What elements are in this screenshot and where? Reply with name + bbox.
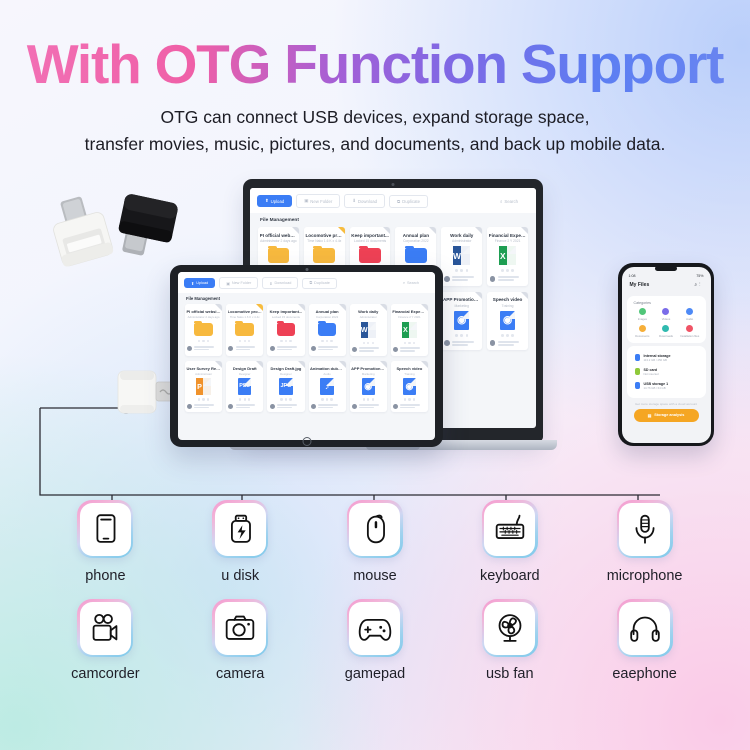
card-action-dots[interactable]	[239, 340, 250, 342]
compat-item-phone[interactable]: phone	[50, 500, 160, 584]
laptop-duplicate-button[interactable]: ⧉ Duplicate	[389, 195, 428, 208]
compat-item-u disk[interactable]: u disk	[185, 500, 295, 584]
card-action-dots[interactable]	[404, 342, 415, 344]
icon-tile[interactable]	[347, 599, 403, 657]
owner-line	[236, 407, 251, 409]
file-owner	[393, 347, 426, 352]
owner-line	[498, 344, 514, 346]
mouse-icon	[355, 509, 395, 549]
icon-tile[interactable]	[482, 500, 538, 558]
dot	[321, 398, 323, 400]
laptop-upload-button[interactable]: ⬆ Upload	[257, 195, 292, 207]
card-corner-marker	[421, 361, 428, 368]
tablet-download-button[interactable]: ⬇ Download	[262, 277, 298, 289]
owner-line	[400, 404, 420, 406]
dot	[511, 269, 514, 272]
file-card[interactable]: PI official website... Administrator 2 d…	[185, 304, 222, 356]
compat-item-label: eaephone	[612, 666, 677, 682]
dot	[248, 398, 250, 400]
icon-tile-inner	[215, 602, 266, 655]
tablet-upload-button[interactable]: ⬆ Upload	[184, 278, 215, 288]
card-corner-marker	[429, 227, 436, 234]
file-meta: Locked 15 documents	[354, 239, 386, 243]
owner-line	[359, 407, 374, 409]
header: With OTG Function Support OTG can connec…	[0, 0, 750, 157]
owner-lines	[452, 276, 480, 281]
file-meta: Time Nako 1.6 K x 4.4x	[307, 239, 341, 243]
compat-item-keyboard[interactable]: keyboard	[455, 500, 565, 584]
compat-item-label: u disk	[221, 568, 259, 584]
tablet-device: ⬆ Upload ▣ New Folder ⬇ Download ⧉ Dupli…	[170, 265, 443, 447]
file-card[interactable]: Annual plan Corporation 2022	[309, 304, 346, 356]
status-battery: 75%	[696, 274, 703, 278]
compat-row-2: camcorder camera gamepad	[0, 599, 750, 682]
dot	[460, 269, 463, 272]
dot	[244, 340, 246, 342]
word-file-icon: W	[361, 322, 376, 338]
dot	[285, 398, 287, 400]
icon-tile[interactable]	[212, 500, 268, 558]
card-corner-marker	[380, 304, 387, 311]
file-card[interactable]: Animation dubbing Audio ♪	[309, 361, 346, 413]
file-meta: Administrator	[452, 239, 471, 243]
file-meta: Finance 2 Y 2021	[495, 239, 521, 243]
storage-size: Not inserted	[644, 372, 659, 376]
icon-tile-inner	[484, 602, 535, 655]
avatar	[270, 404, 275, 409]
avatar	[187, 346, 192, 351]
owner-line	[318, 407, 333, 409]
card-corner-marker	[521, 227, 528, 234]
word-file-icon: W	[453, 246, 471, 265]
laptop-new-folder-button[interactable]: ▣ New Folder	[296, 194, 340, 208]
dot	[239, 340, 241, 342]
download-icon: ⬇	[269, 281, 272, 286]
ppt-file-icon: P	[196, 378, 211, 394]
owner-line	[400, 350, 415, 352]
owner-line	[400, 407, 415, 409]
folder-icon	[194, 323, 213, 336]
tablet-body: ⬆ Upload ▣ New Folder ⬇ Download ⧉ Dupli…	[170, 265, 443, 447]
card-corner-marker	[298, 361, 305, 368]
file-card[interactable]: APP Promotional Video Marketing ◉	[441, 292, 482, 351]
tablet-camera-icon	[305, 268, 308, 271]
camera-icon	[220, 608, 260, 648]
owner-line	[236, 404, 256, 406]
icon-tile[interactable]	[347, 500, 403, 558]
upload-icon: ⬆	[265, 198, 269, 204]
phone-screen: 1:08 75% My Files ⌕⋮ Categories Images V…	[622, 267, 711, 443]
file-meta: Marketing	[362, 372, 375, 376]
tablet-search-input[interactable]: ⌕ Search	[393, 278, 429, 289]
headphones-icon	[625, 608, 665, 648]
card-corner-marker	[339, 361, 346, 368]
dot	[330, 340, 332, 342]
card-action-dots[interactable]	[501, 334, 514, 337]
card-action-dots[interactable]	[363, 398, 374, 400]
file-meta: Locked 15 documents	[272, 315, 300, 319]
storage-icon	[635, 382, 640, 389]
owner-line	[318, 346, 338, 348]
card-action-dots[interactable]	[363, 342, 374, 344]
category-label: Documents	[635, 334, 649, 338]
compat-item-camcorder[interactable]: camcorder	[50, 599, 160, 682]
card-corner-marker	[292, 227, 299, 234]
file-meta: Designer	[239, 372, 251, 376]
category-icon	[639, 308, 646, 315]
tablet-toolbar: ⬆ Upload ▣ New Folder ⬇ Download ⧉ Dupli…	[178, 272, 435, 293]
owner-line	[277, 407, 292, 409]
phone-category-item[interactable]: Videos	[654, 308, 678, 321]
dot	[501, 334, 504, 337]
dot	[460, 334, 463, 337]
file-owner	[187, 404, 220, 409]
subtitle-line-1: OTG can connect USB devices, expand stor…	[0, 104, 750, 131]
compat-item-mouse[interactable]: mouse	[320, 500, 430, 584]
icon-tile-inner	[349, 602, 400, 655]
compat-row-1: phone u disk mouse k	[0, 500, 750, 584]
file-card[interactable]: APP Promotional Video Marketing ◉	[350, 361, 387, 413]
compat-item-label: keyboard	[480, 568, 540, 584]
dot	[413, 398, 415, 400]
card-corner-marker	[338, 227, 345, 234]
owner-line	[452, 344, 468, 346]
phone-notch	[655, 266, 677, 271]
owner-line	[498, 276, 519, 278]
owner-line	[359, 350, 374, 352]
phone-app-title: My Files	[630, 282, 650, 288]
file-owner	[352, 347, 385, 352]
file-card[interactable]: Work daily Administrator W	[350, 304, 387, 356]
phone-storage-row[interactable]: USB storage 1 14.76 GB / 64 GB	[631, 379, 702, 393]
dot	[321, 340, 323, 342]
file-card[interactable]: Keep important... Locked 15 documents	[267, 304, 304, 356]
gamepad-icon	[355, 608, 395, 648]
file-owner	[352, 404, 385, 409]
file-owner	[444, 276, 480, 282]
icon-tile-inner	[215, 503, 266, 556]
file-card[interactable]: User Survey Report Administrator P	[185, 361, 222, 413]
storage-size: 14.76 GB / 64 GB	[644, 386, 669, 390]
owner-lines	[277, 346, 303, 351]
phone-category-item[interactable]: Installation files	[678, 325, 702, 338]
card-corner-marker	[475, 227, 482, 234]
card-action-dots[interactable]	[501, 269, 514, 272]
phone-category-item[interactable]: Documents	[631, 325, 655, 338]
file-card[interactable]: Design Draft Designer PSD	[226, 361, 263, 413]
status-time: 1:08	[629, 274, 636, 278]
dot	[404, 398, 406, 400]
storage-icon	[635, 354, 640, 361]
avatar	[228, 404, 233, 409]
category-icon	[639, 325, 646, 332]
tablet-section-title: File Management	[178, 293, 435, 304]
avatar	[352, 404, 357, 409]
dot	[330, 398, 332, 400]
compat-item-label: mouse	[353, 568, 397, 584]
excel-file-icon: X	[499, 246, 517, 265]
tablet-duplicate-button[interactable]: ⧉ Duplicate	[302, 278, 337, 289]
avatar	[311, 346, 316, 351]
tablet-file-grid-row-2: User Survey Report Administrator P Desig…	[178, 356, 435, 413]
file-meta: Training	[404, 372, 414, 376]
folder-icon	[268, 248, 290, 264]
card-action-dots[interactable]	[455, 269, 468, 272]
phone-category-item[interactable]: Downloads	[654, 325, 678, 338]
owner-lines	[498, 276, 526, 281]
phone-storage-row[interactable]: SD card Not inserted	[631, 365, 702, 379]
video-file-icon: ◉	[500, 311, 515, 330]
dot	[404, 342, 406, 344]
usb-fan-icon	[490, 608, 530, 648]
icon-tile-inner	[349, 503, 400, 556]
storage-text: USB storage 1 14.76 GB / 64 GB	[644, 382, 669, 390]
folder-icon	[235, 323, 254, 336]
storage-size: 113.2 GB / 256 GB	[644, 358, 671, 362]
card-action-dots[interactable]	[280, 340, 291, 342]
dot	[455, 269, 458, 272]
dot	[207, 340, 209, 342]
jpg-file-icon: JPG	[279, 378, 292, 394]
owner-lines	[194, 404, 220, 409]
owner-lines	[318, 404, 344, 409]
icon-tile[interactable]	[77, 599, 133, 657]
dot	[363, 342, 365, 344]
owner-line	[194, 349, 209, 351]
storage-name: Internal storage	[644, 354, 671, 358]
file-meta: Training	[502, 304, 514, 308]
dot	[326, 340, 328, 342]
tablet-home-button[interactable]	[302, 437, 311, 446]
dot	[239, 398, 241, 400]
video-file-icon: ◉	[454, 311, 469, 330]
file-card[interactable]: Speech video Training ◉	[487, 292, 528, 351]
owner-lines	[236, 346, 262, 351]
owner-lines	[236, 404, 262, 409]
icon-tile-inner	[619, 503, 670, 556]
folder-plus-icon: ▣	[226, 281, 230, 286]
card-corner-marker	[339, 304, 346, 311]
card-action-dots[interactable]	[321, 340, 332, 342]
phone-storage-analysis-button[interactable]: ▤ Storage analysis	[634, 409, 699, 422]
card-corner-marker	[215, 304, 222, 311]
file-meta: Finance 2 Y 2021	[398, 315, 420, 319]
category-label: Videos	[662, 317, 671, 321]
phone-categories-grid: Images Videos Audio Documents Downloads …	[631, 308, 702, 338]
avatar	[187, 404, 192, 409]
compat-item-gamepad[interactable]: gamepad	[320, 599, 430, 682]
tablet-screen: ⬆ Upload ▣ New Folder ⬇ Download ⧉ Dupli…	[178, 272, 435, 440]
file-card[interactable]: Work daily Administrator W	[441, 227, 482, 286]
subtitle: OTG can connect USB devices, expand stor…	[0, 104, 750, 157]
avatar	[228, 346, 233, 351]
icon-tile-inner	[80, 602, 131, 655]
file-owner	[311, 346, 344, 351]
card-action-dots[interactable]	[198, 398, 209, 400]
folder-icon	[313, 248, 335, 264]
card-action-dots[interactable]	[198, 340, 209, 342]
usb-flash-drive-icon	[220, 509, 260, 549]
owner-lines	[359, 347, 385, 352]
dot	[363, 398, 365, 400]
category-icon	[686, 325, 693, 332]
file-owner	[311, 404, 344, 409]
compat-item-label: phone	[85, 568, 125, 584]
icon-tile[interactable]	[617, 500, 673, 558]
storage-name: USB storage 1	[644, 382, 669, 386]
file-owner	[187, 346, 220, 351]
icon-tile[interactable]	[212, 599, 268, 657]
phone-header-actions[interactable]: ⌕⋮	[694, 282, 702, 288]
file-card[interactable]: Financial Expenditure... Finance 2 Y 202…	[391, 304, 428, 356]
compat-item-usb fan[interactable]: usb fan	[455, 599, 565, 682]
dot	[367, 342, 369, 344]
card-action-dots[interactable]	[239, 398, 250, 400]
dot	[280, 398, 282, 400]
file-card[interactable]: Design Draft.jpg Designer JPG	[267, 361, 304, 413]
phone-storage-section: Internal storage 113.2 GB / 256 GB SD ca…	[627, 346, 706, 398]
dot	[511, 334, 514, 337]
compat-item-label: gamepad	[345, 666, 405, 682]
storage-icon	[635, 368, 640, 375]
file-meta: Marketing	[455, 304, 469, 308]
card-corner-marker	[475, 292, 482, 299]
microphone-icon	[625, 509, 665, 549]
phone-category-item[interactable]: Images	[631, 308, 655, 321]
file-card[interactable]: Locomotive project Time Nako 1.6 K x 4.4…	[226, 304, 263, 356]
card-action-dots[interactable]	[455, 334, 468, 337]
laptop-toolbar: ⬆ Upload ▣ New Folder ⬇ Download ⧉ Dupli…	[250, 188, 536, 213]
owner-lines	[400, 404, 426, 409]
compat-item-label: camera	[216, 666, 264, 682]
phone-app-header: My Files ⌕⋮	[622, 280, 711, 293]
owner-line	[194, 404, 214, 406]
audio-file-icon: ♪	[320, 378, 333, 394]
dot	[372, 342, 374, 344]
owner-lines	[277, 404, 303, 409]
category-label: Downloads	[659, 334, 673, 338]
file-card[interactable]: Speech video Training ◉	[391, 361, 428, 413]
storage-name: SD card	[644, 368, 659, 372]
owner-line	[452, 276, 473, 278]
file-owner	[444, 340, 480, 346]
file-meta: Corporation 2022	[403, 239, 428, 243]
file-owner	[270, 346, 303, 351]
folder-icon	[405, 248, 427, 264]
avatar	[270, 346, 275, 351]
tablet-file-grid-row-1: PI official website... Administrator 2 d…	[178, 304, 435, 356]
card-corner-marker	[298, 304, 305, 311]
phone-categories-section: Categories Images Videos Audio Documents…	[627, 296, 706, 343]
search-icon: ⌕	[403, 281, 405, 285]
dot	[413, 342, 415, 344]
laptop-search-input[interactable]: ⌕ Search	[489, 195, 529, 208]
laptop-camera-icon	[392, 183, 395, 186]
owner-line	[277, 404, 297, 406]
dot	[372, 398, 374, 400]
compat-item-label: microphone	[607, 568, 683, 584]
category-icon	[686, 308, 693, 315]
owner-lines	[318, 346, 344, 351]
phone-category-item[interactable]: Audio	[678, 308, 702, 321]
category-label: Audio	[686, 317, 693, 321]
keyboard-icon	[490, 509, 530, 549]
laptop-download-button[interactable]: ⬇ Download	[344, 194, 385, 208]
excel-file-icon: X	[402, 322, 417, 338]
owner-line	[359, 404, 379, 406]
dot	[326, 398, 328, 400]
file-meta: Designer	[280, 372, 292, 376]
avatar	[490, 340, 496, 346]
dot	[198, 340, 200, 342]
file-meta: Audio	[323, 372, 330, 376]
more-options-icon[interactable]: ⋮	[699, 282, 702, 288]
file-owner	[393, 404, 426, 409]
card-corner-marker	[521, 292, 528, 299]
file-card[interactable]: Financial Expenditure... Finance 2 Y 202…	[487, 227, 528, 286]
chart-icon: ▤	[648, 413, 652, 418]
file-meta: Administrator 2 days ago	[188, 315, 220, 319]
card-corner-marker	[256, 361, 263, 368]
phone-device: 1:08 75% My Files ⌕⋮ Categories Images V…	[618, 263, 714, 446]
icon-tile-inner	[619, 602, 670, 655]
dot	[198, 398, 200, 400]
dot	[466, 334, 469, 337]
phone-icon	[85, 509, 125, 549]
icon-tile-inner	[484, 503, 535, 556]
card-action-dots[interactable]	[404, 398, 415, 400]
tablet-new-folder-button[interactable]: ▣ New Folder	[219, 277, 258, 289]
owner-line	[318, 404, 338, 406]
file-meta: Administrator	[360, 315, 377, 319]
icon-tile[interactable]	[482, 599, 538, 657]
dot	[207, 398, 209, 400]
dot	[506, 269, 509, 272]
icon-tile[interactable]	[617, 599, 673, 657]
card-corner-marker	[421, 304, 428, 311]
compat-item-camera[interactable]: camera	[185, 599, 295, 682]
dot	[244, 398, 246, 400]
compat-item-microphone[interactable]: microphone	[590, 500, 700, 584]
dot	[202, 340, 204, 342]
owner-lines	[359, 404, 385, 409]
phone-storage-row[interactable]: Internal storage 113.2 GB / 256 GB	[631, 351, 702, 365]
icon-tile[interactable]	[77, 500, 133, 558]
owner-lines	[452, 341, 480, 346]
phone-cloud-note: Get more storage space with a cloud acco…	[622, 402, 711, 406]
avatar	[393, 347, 398, 352]
owner-line	[452, 341, 473, 343]
card-action-dots[interactable]	[280, 398, 291, 400]
owner-line	[498, 279, 514, 281]
camcorder-icon	[85, 608, 125, 648]
compat-item-label: usb fan	[486, 666, 534, 682]
owner-line	[400, 347, 420, 349]
dot	[248, 340, 250, 342]
copy-icon: ⧉	[397, 199, 400, 204]
page-title: With OTG Function Support	[0, 0, 750, 92]
compat-item-eaephone[interactable]: eaephone	[590, 599, 700, 682]
dot	[408, 342, 410, 344]
card-action-dots[interactable]	[321, 398, 332, 400]
video-file-icon: ◉	[362, 378, 375, 394]
owner-lines	[400, 347, 426, 352]
file-owner	[490, 276, 526, 282]
psd-file-icon: PSD	[238, 378, 251, 394]
dot	[280, 340, 282, 342]
category-icon	[662, 308, 669, 315]
owner-lines	[498, 341, 526, 346]
